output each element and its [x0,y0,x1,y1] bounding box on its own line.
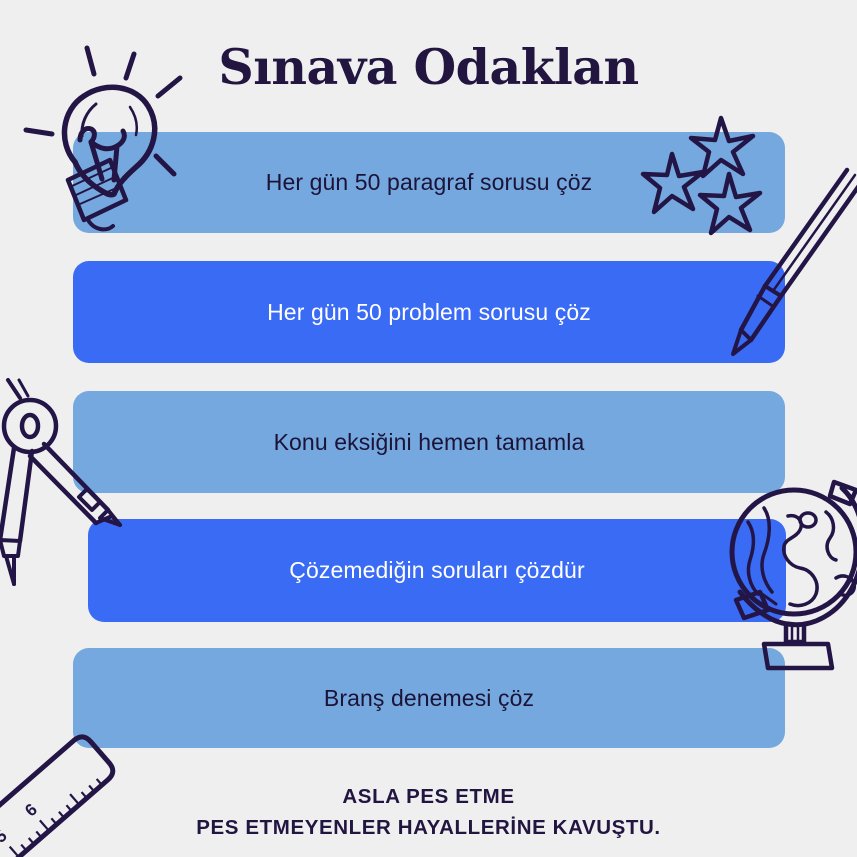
list-item-4[interactable]: Çözemediğin soruları çözdür [88,519,786,622]
list-item-1[interactable]: Her gün 50 paragraf sorusu çöz [73,132,785,233]
list-item-label: Her gün 50 problem sorusu çöz [267,299,591,326]
footer-line-1: ASLA PES ETME [0,785,857,809]
poster-canvas: Sınava Odaklan [0,0,857,857]
list-item-label: Konu eksiğini hemen tamamla [274,429,585,456]
list-item-label: Her gün 50 paragraf sorusu çöz [266,169,592,196]
list-item-2[interactable]: Her gün 50 problem sorusu çöz [73,261,785,363]
list-item-label: Branş denemesi çöz [324,685,534,712]
list-item-5[interactable]: Branş denemesi çöz [73,648,785,748]
list-item-3[interactable]: Konu eksiğini hemen tamamla [73,391,785,493]
footer-line-2: PES ETMEYENLER HAYALLERİNE KAVUŞTU. [0,816,857,840]
page-title: Sınava Odaklan [0,38,857,96]
list-item-label: Çözemediğin soruları çözdür [289,557,584,584]
